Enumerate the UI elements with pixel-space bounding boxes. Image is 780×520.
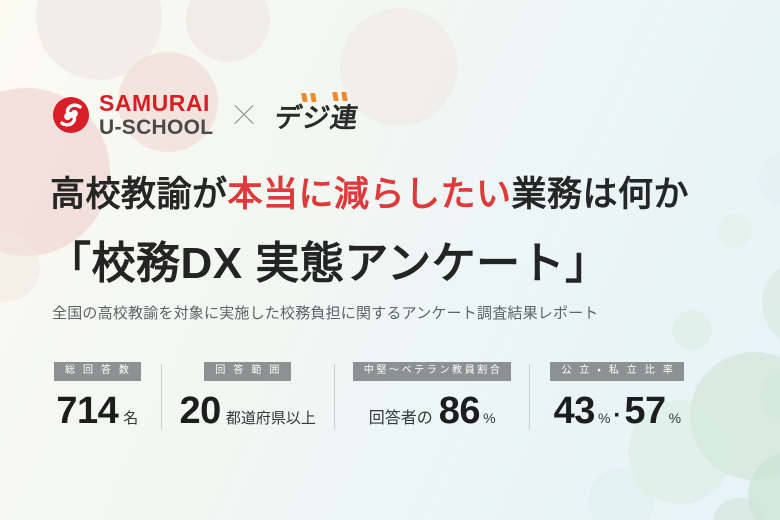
- stat-prefix: 回答者の: [369, 404, 433, 428]
- decorative-circle-green: [758, 150, 780, 208]
- stat-ratio-separator: ·: [613, 402, 621, 430]
- stat-badge: 公 立 ・ 私 立 比 率: [550, 362, 684, 381]
- samurai-wordmark-top: SAMURAI: [99, 92, 213, 115]
- stat-badge: 総 回 答 数: [54, 362, 141, 381]
- report-cover-canvas: SAMURAI U-SCHOOL デジ連 高校教諭が本当に減らしたい業務は何か …: [0, 0, 780, 520]
- page-headline: 高校教諭が本当に減らしたい業務は何か: [50, 166, 689, 217]
- logo-row: SAMURAI U-SCHOOL デジ連: [52, 92, 359, 138]
- page-title: 「校務DX 実態アンケート」: [47, 227, 610, 291]
- stat-value: 20 都道府県以上: [180, 392, 316, 430]
- decorative-circle-green: [718, 214, 752, 248]
- samurai-wordmark-bottom: U-SCHOOL: [99, 117, 213, 138]
- stats-row: 総 回 答 数 714 名 回 答 範 囲 20 都道府県以上 中堅〜ベテラン教…: [50, 362, 694, 430]
- stat-badge: 回 答 範 囲: [204, 362, 291, 381]
- stat-percent: %: [483, 410, 495, 426]
- headline-tail: 業務は何か: [512, 175, 690, 214]
- samurai-logo: SAMURAI U-SCHOOL: [52, 92, 213, 138]
- stat-total-responses: 総 回 答 数 714 名: [50, 362, 161, 430]
- stat-value: 回答者の 86 %: [369, 392, 496, 430]
- samurai-wordmark: SAMURAI U-SCHOOL: [99, 92, 213, 138]
- stat-number: 86: [439, 392, 480, 430]
- decorative-circle-green: [672, 310, 712, 350]
- stat-number-public: 43: [554, 392, 595, 430]
- stat-percent-public: %: [598, 410, 610, 426]
- stat-value: 43 % · 57 %: [554, 392, 681, 430]
- stat-percent-private: %: [669, 410, 681, 426]
- stat-veteran-ratio: 中堅〜ベテラン教員割合 回答者の 86 %: [335, 362, 530, 430]
- cross-separator-icon: [231, 102, 257, 128]
- stat-unit: 名: [123, 407, 138, 428]
- stat-number: 714: [56, 392, 118, 430]
- samurai-swirl-icon: [52, 96, 90, 134]
- stat-number-private: 57: [624, 392, 665, 430]
- stat-value: 714 名: [56, 392, 138, 430]
- stat-badge: 中堅〜ベテラン教員割合: [353, 362, 512, 381]
- headline-accent: 本当に減らしたい: [228, 175, 512, 214]
- dejiren-wordmark: デジ連: [272, 103, 361, 134]
- decorative-circle-rose: [186, 0, 270, 62]
- headline-lead: 高校教諭が: [50, 175, 228, 214]
- stat-unit: 都道府県以上: [226, 407, 316, 428]
- stat-number: 20: [180, 392, 221, 430]
- dejiren-logo: デジ連: [272, 96, 362, 135]
- stat-response-area: 回 答 範 囲 20 都道府県以上: [162, 362, 334, 430]
- page-subtitle: 全国の高校教諭を対象に実施した校務負担に関するアンケート調査結果レポート: [52, 302, 599, 323]
- decorative-circle-green: [762, 258, 780, 348]
- stat-public-private-ratio: 公 立 ・ 私 立 比 率 43 % · 57 %: [530, 362, 694, 430]
